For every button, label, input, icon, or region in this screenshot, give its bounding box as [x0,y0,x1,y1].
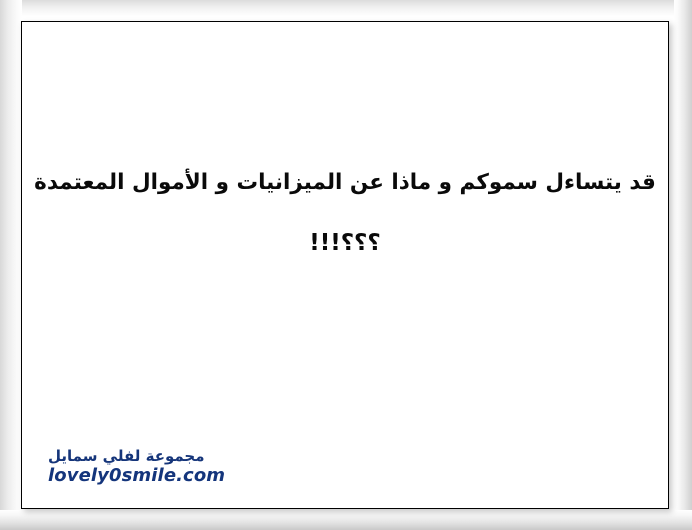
slide-card: قد يتساءل سموكم و ماذا عن الميزانيات و ا… [21,21,669,509]
watermark-brand: مجموعة لفلي سمايل lovely0smile.com [48,449,225,486]
brand-arabic-name: مجموعة لفلي سمايل [48,449,225,465]
message-block: قد يتساءل سموكم و ماذا عن الميزانيات و ا… [22,172,668,255]
page-edge-shadow-left [0,0,22,530]
brand-website-url: lovely0smile.com [48,467,225,486]
page-edge-shadow-top [0,0,692,16]
page-edge-shadow-right [674,0,692,530]
slide-canvas: قد يتساءل سموكم و ماذا عن الميزانيات و ا… [0,0,692,530]
message-line-secondary: ؟؟؟!!! [22,232,668,255]
page-edge-shadow-bottom [0,510,692,530]
message-line-primary: قد يتساءل سموكم و ماذا عن الميزانيات و ا… [22,172,668,194]
